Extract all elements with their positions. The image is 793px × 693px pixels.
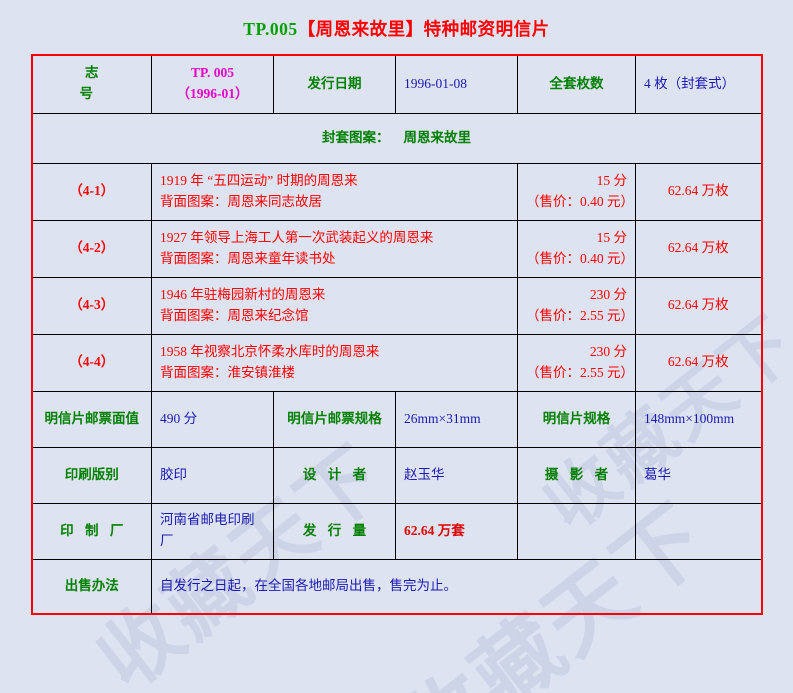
table-row-stamp: （4-4） 1958 年视察北京怀柔水库时的周恩来 背面图案：淮安镇淮楼 230… xyxy=(32,334,762,391)
value-face-total: 490 分 xyxy=(152,391,274,447)
label-sale-method: 出售办法 xyxy=(32,559,152,614)
empty-cell xyxy=(518,503,636,559)
stamp-front-design: 1927 年领导上海工人第一次武装起义的周恩来 xyxy=(160,228,509,249)
stamp-price-cell: 15 分 （售价：0.40 元） xyxy=(518,163,636,220)
stamp-quantity: 62.64 万枚 xyxy=(636,220,762,277)
value-serial-line2: （1996-01） xyxy=(160,84,265,105)
stamp-description: 1927 年领导上海工人第一次武装起义的周恩来 背面图案：周恩来童年读书处 xyxy=(152,220,518,277)
page-root: 收藏天下 收藏天下 收藏天下 TP.005【周恩来故里】特种邮资明信片 志 号 … xyxy=(0,0,793,693)
label-photographer: 摄 影 者 xyxy=(518,447,636,503)
value-photographer: 葛华 xyxy=(636,447,762,503)
page-title-name: 【周恩来故里】特种邮资明信片 xyxy=(298,19,550,39)
value-issue-date: 1996-01-08 xyxy=(396,55,518,113)
table-row-credits: 印刷版别 胶印 设 计 者 赵玉华 摄 影 者 葛华 xyxy=(32,447,762,503)
stamp-sale-price: （售价：0.40 元） xyxy=(526,249,627,270)
stamp-info-table: 志 号 TP. 005 （1996-01） 发行日期 1996-01-08 全套… xyxy=(31,54,763,615)
stamp-description: 1946 年驻梅园新村的周恩来 背面图案：周恩来纪念馆 xyxy=(152,277,518,334)
label-stamp-size: 明信片邮票规格 xyxy=(274,391,396,447)
stamp-index: （4-3） xyxy=(32,277,152,334)
stamp-back-design: 背面图案：周恩来纪念馆 xyxy=(160,306,509,327)
stamp-sale-price: （售价：2.55 元） xyxy=(526,363,627,384)
stamp-description: 1958 年视察北京怀柔水库时的周恩来 背面图案：淮安镇淮楼 xyxy=(152,334,518,391)
stamp-price-cell: 15 分 （售价：0.40 元） xyxy=(518,220,636,277)
stamp-price-cell: 230 分 （售价：2.55 元） xyxy=(518,277,636,334)
stamp-face-value: 15 分 xyxy=(526,171,627,192)
value-serial: TP. 005 （1996-01） xyxy=(152,55,274,113)
stamp-price-cell: 230 分 （售价：2.55 元） xyxy=(518,334,636,391)
value-printing-method: 胶印 xyxy=(152,447,274,503)
table-row-stamp: （4-1） 1919 年 “五四运动” 时期的周恩来 背面图案：周恩来同志故居 … xyxy=(32,163,762,220)
stamp-front-design: 1946 年驻梅园新村的周恩来 xyxy=(160,285,509,306)
cover-design-banner: 封套图案：周恩来故里 xyxy=(32,113,762,163)
label-designer: 设 计 者 xyxy=(274,447,396,503)
stamp-back-design: 背面图案：周恩来同志故居 xyxy=(160,192,509,213)
value-cover-design: 周恩来故里 xyxy=(404,130,472,145)
value-stamp-size: 26mm×31mm xyxy=(396,391,518,447)
label-issue-quantity: 发 行 量 xyxy=(274,503,396,559)
table-row-cover-design: 封套图案：周恩来故里 xyxy=(32,113,762,163)
stamp-sale-price: （售价：0.40 元） xyxy=(526,192,627,213)
stamp-quantity: 62.64 万枚 xyxy=(636,163,762,220)
stamp-index: （4-1） xyxy=(32,163,152,220)
label-card-size: 明信片规格 xyxy=(518,391,636,447)
table-row-stamp: （4-3） 1946 年驻梅园新村的周恩来 背面图案：周恩来纪念馆 230 分 … xyxy=(32,277,762,334)
stamp-index: （4-4） xyxy=(32,334,152,391)
label-printing-method: 印刷版别 xyxy=(32,447,152,503)
label-issue-date: 发行日期 xyxy=(274,55,396,113)
table-row-serial: 志 号 TP. 005 （1996-01） 发行日期 1996-01-08 全套… xyxy=(32,55,762,113)
label-serial: 志 号 xyxy=(32,55,152,113)
stamp-front-design: 1919 年 “五四运动” 时期的周恩来 xyxy=(160,171,509,192)
value-serial-line1: TP. 005 xyxy=(160,63,265,84)
table-row-sizes: 明信片邮票面值 490 分 明信片邮票规格 26mm×31mm 明信片规格 14… xyxy=(32,391,762,447)
page-title-code: TP.005 xyxy=(243,19,297,39)
value-set-count: 4 枚（封套式） xyxy=(636,55,762,113)
stamp-sale-price: （售价：2.55 元） xyxy=(526,306,627,327)
value-printer: 河南省邮电印刷厂 xyxy=(152,503,274,559)
value-sale-method: 自发行之日起，在全国各地邮局出售，售完为止。 xyxy=(152,559,762,614)
stamp-face-value: 230 分 xyxy=(526,285,627,306)
table-row-stamp: （4-2） 1927 年领导上海工人第一次武装起义的周恩来 背面图案：周恩来童年… xyxy=(32,220,762,277)
table-row-printer: 印 制 厂 河南省邮电印刷厂 发 行 量 62.64 万套 xyxy=(32,503,762,559)
value-card-size: 148mm×100mm xyxy=(636,391,762,447)
stamp-quantity: 62.64 万枚 xyxy=(636,277,762,334)
value-designer: 赵玉华 xyxy=(396,447,518,503)
stamp-back-design: 背面图案：周恩来童年读书处 xyxy=(160,249,509,270)
label-set-count: 全套枚数 xyxy=(518,55,636,113)
stamp-front-design: 1958 年视察北京怀柔水库时的周恩来 xyxy=(160,342,509,363)
value-issue-quantity: 62.64 万套 xyxy=(396,503,518,559)
stamp-index: （4-2） xyxy=(32,220,152,277)
stamp-description: 1919 年 “五四运动” 时期的周恩来 背面图案：周恩来同志故居 xyxy=(152,163,518,220)
stamp-back-design: 背面图案：淮安镇淮楼 xyxy=(160,363,509,384)
label-printer: 印 制 厂 xyxy=(32,503,152,559)
stamp-face-value: 15 分 xyxy=(526,228,627,249)
page-title: TP.005【周恩来故里】特种邮资明信片 xyxy=(0,0,793,41)
stamp-quantity: 62.64 万枚 xyxy=(636,334,762,391)
label-face-total: 明信片邮票面值 xyxy=(32,391,152,447)
empty-cell xyxy=(636,503,762,559)
stamp-face-value: 230 分 xyxy=(526,342,627,363)
table-row-sale-method: 出售办法 自发行之日起，在全国各地邮局出售，售完为止。 xyxy=(32,559,762,614)
label-cover-design: 封套图案： xyxy=(322,130,390,145)
